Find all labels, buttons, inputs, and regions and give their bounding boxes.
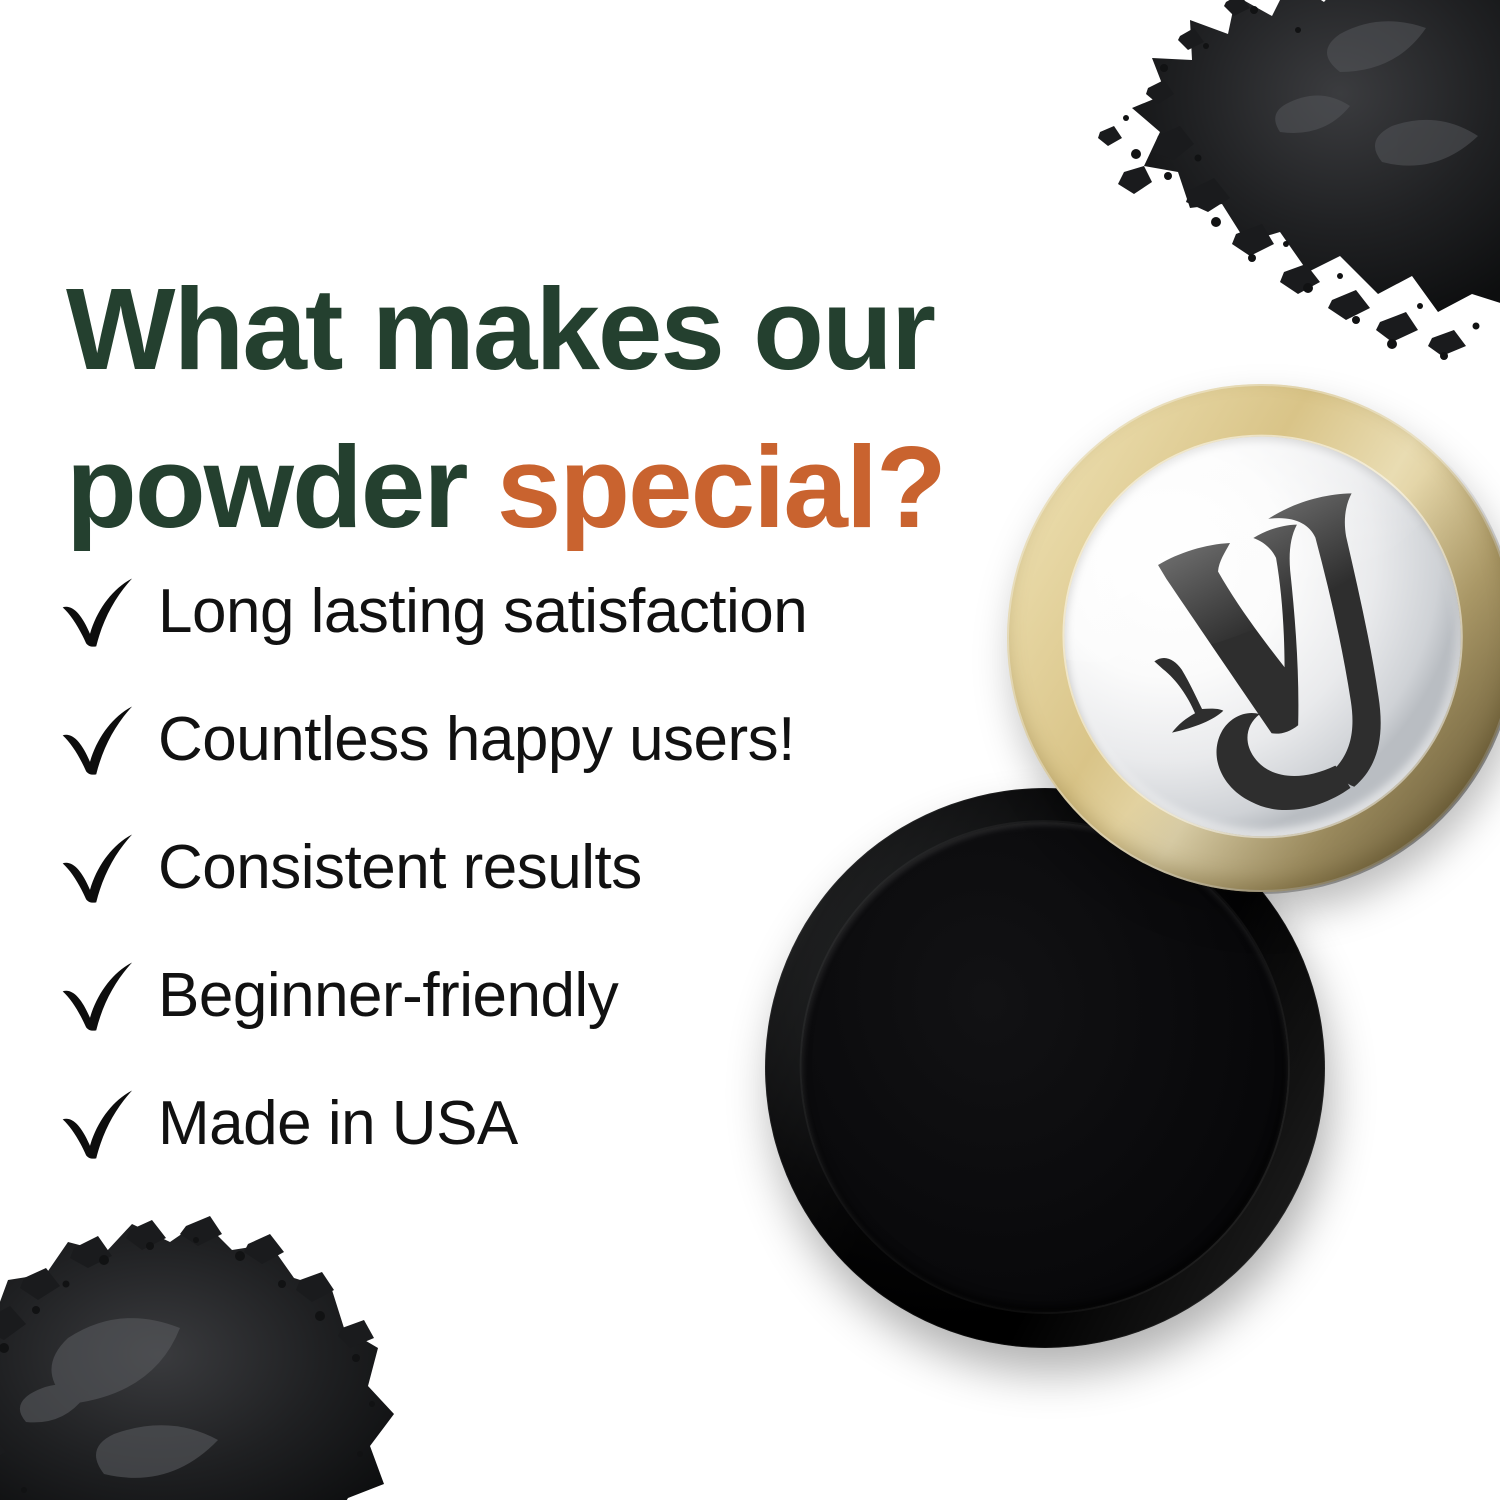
product-feature-graphic: What makes our powder special? Long last… (0, 0, 1500, 1500)
feature-label: Long lasting satisfaction (158, 581, 807, 643)
product-image (735, 370, 1500, 1380)
check-icon (58, 1085, 136, 1163)
feature-label: Made in USA (158, 1093, 518, 1155)
headline-line-2-main: powder (66, 422, 497, 552)
powder-scatter-top-right-icon (1040, 0, 1500, 376)
check-icon (58, 573, 136, 651)
feature-label: Beginner-friendly (158, 965, 618, 1027)
feature-label: Consistent results (158, 837, 642, 899)
vj-monogram-icon (1015, 387, 1500, 886)
powder-scatter-bottom-left-icon (0, 1198, 404, 1500)
check-icon (58, 957, 136, 1035)
check-icon (58, 701, 136, 779)
lid-insert (1015, 387, 1500, 886)
check-icon (58, 829, 136, 907)
feature-label: Countless happy users! (158, 709, 795, 771)
